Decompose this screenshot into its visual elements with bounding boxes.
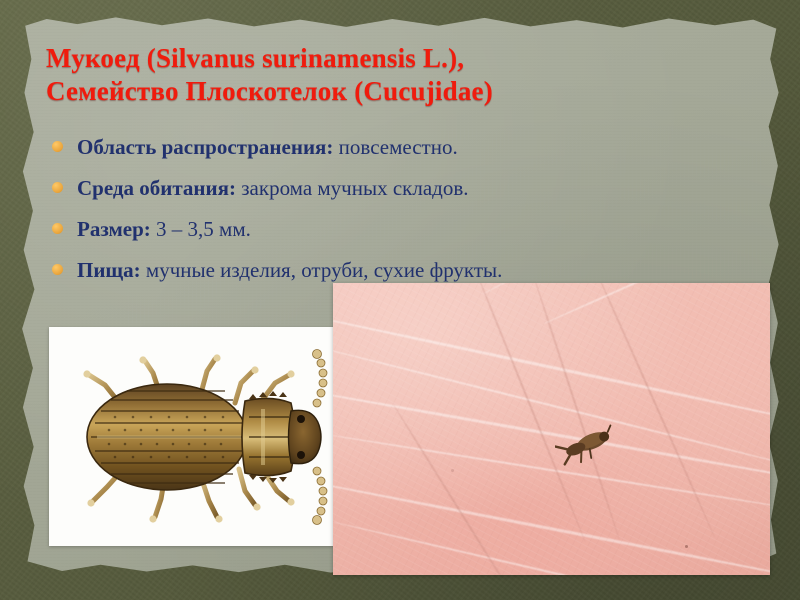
list-item: Среда обитания: закрома мучных складов. — [52, 175, 772, 216]
bullet-label: Среда обитания: — [77, 176, 236, 200]
bullet-text: Область распространения: повсеместно. — [77, 134, 458, 160]
beetle-specimen-photo — [49, 327, 333, 546]
bullet-value: мучные изделия, отруби, сухие фрукты. — [141, 258, 503, 282]
beetle-specimen-illustration — [49, 327, 333, 546]
bullet-text: Размер: 3 – 3,5 мм. — [77, 216, 251, 242]
bullet-dot-icon — [52, 223, 63, 234]
bullet-dot-icon — [52, 141, 63, 152]
list-item: Размер: 3 – 3,5 мм. — [52, 216, 772, 257]
slide-title: Мукоед (Silvanus surinamensis L.), Семей… — [46, 42, 746, 108]
bullet-label: Размер: — [77, 217, 151, 241]
list-item: Область распространения: повсеместно. — [52, 134, 772, 175]
beetle-on-palm-photo — [333, 283, 770, 575]
bullet-text: Среда обитания: закрома мучных складов. — [77, 175, 469, 201]
title-line-2: Семейство Плоскотелок (Cucujidae) — [46, 75, 746, 108]
bullet-value: повсеместно. — [333, 135, 457, 159]
bullet-dot-icon — [52, 182, 63, 193]
bullet-label: Пища: — [77, 258, 141, 282]
bullet-text: Пища: мучные изделия, отруби, сухие фрук… — [77, 257, 502, 283]
title-line-1: Мукоед (Silvanus surinamensis L.), — [46, 42, 746, 75]
bullet-value: закрома мучных складов. — [236, 176, 469, 200]
bullet-dot-icon — [52, 264, 63, 275]
bullet-list: Область распространения: повсеместно. Ср… — [52, 134, 772, 298]
bullet-label: Область распространения: — [77, 135, 333, 159]
presentation-slide: Мукоед (Silvanus surinamensis L.), Семей… — [0, 0, 800, 600]
tiny-beetle-on-skin — [555, 423, 617, 467]
skin-texture — [333, 283, 770, 575]
bullet-value: 3 – 3,5 мм. — [151, 217, 251, 241]
